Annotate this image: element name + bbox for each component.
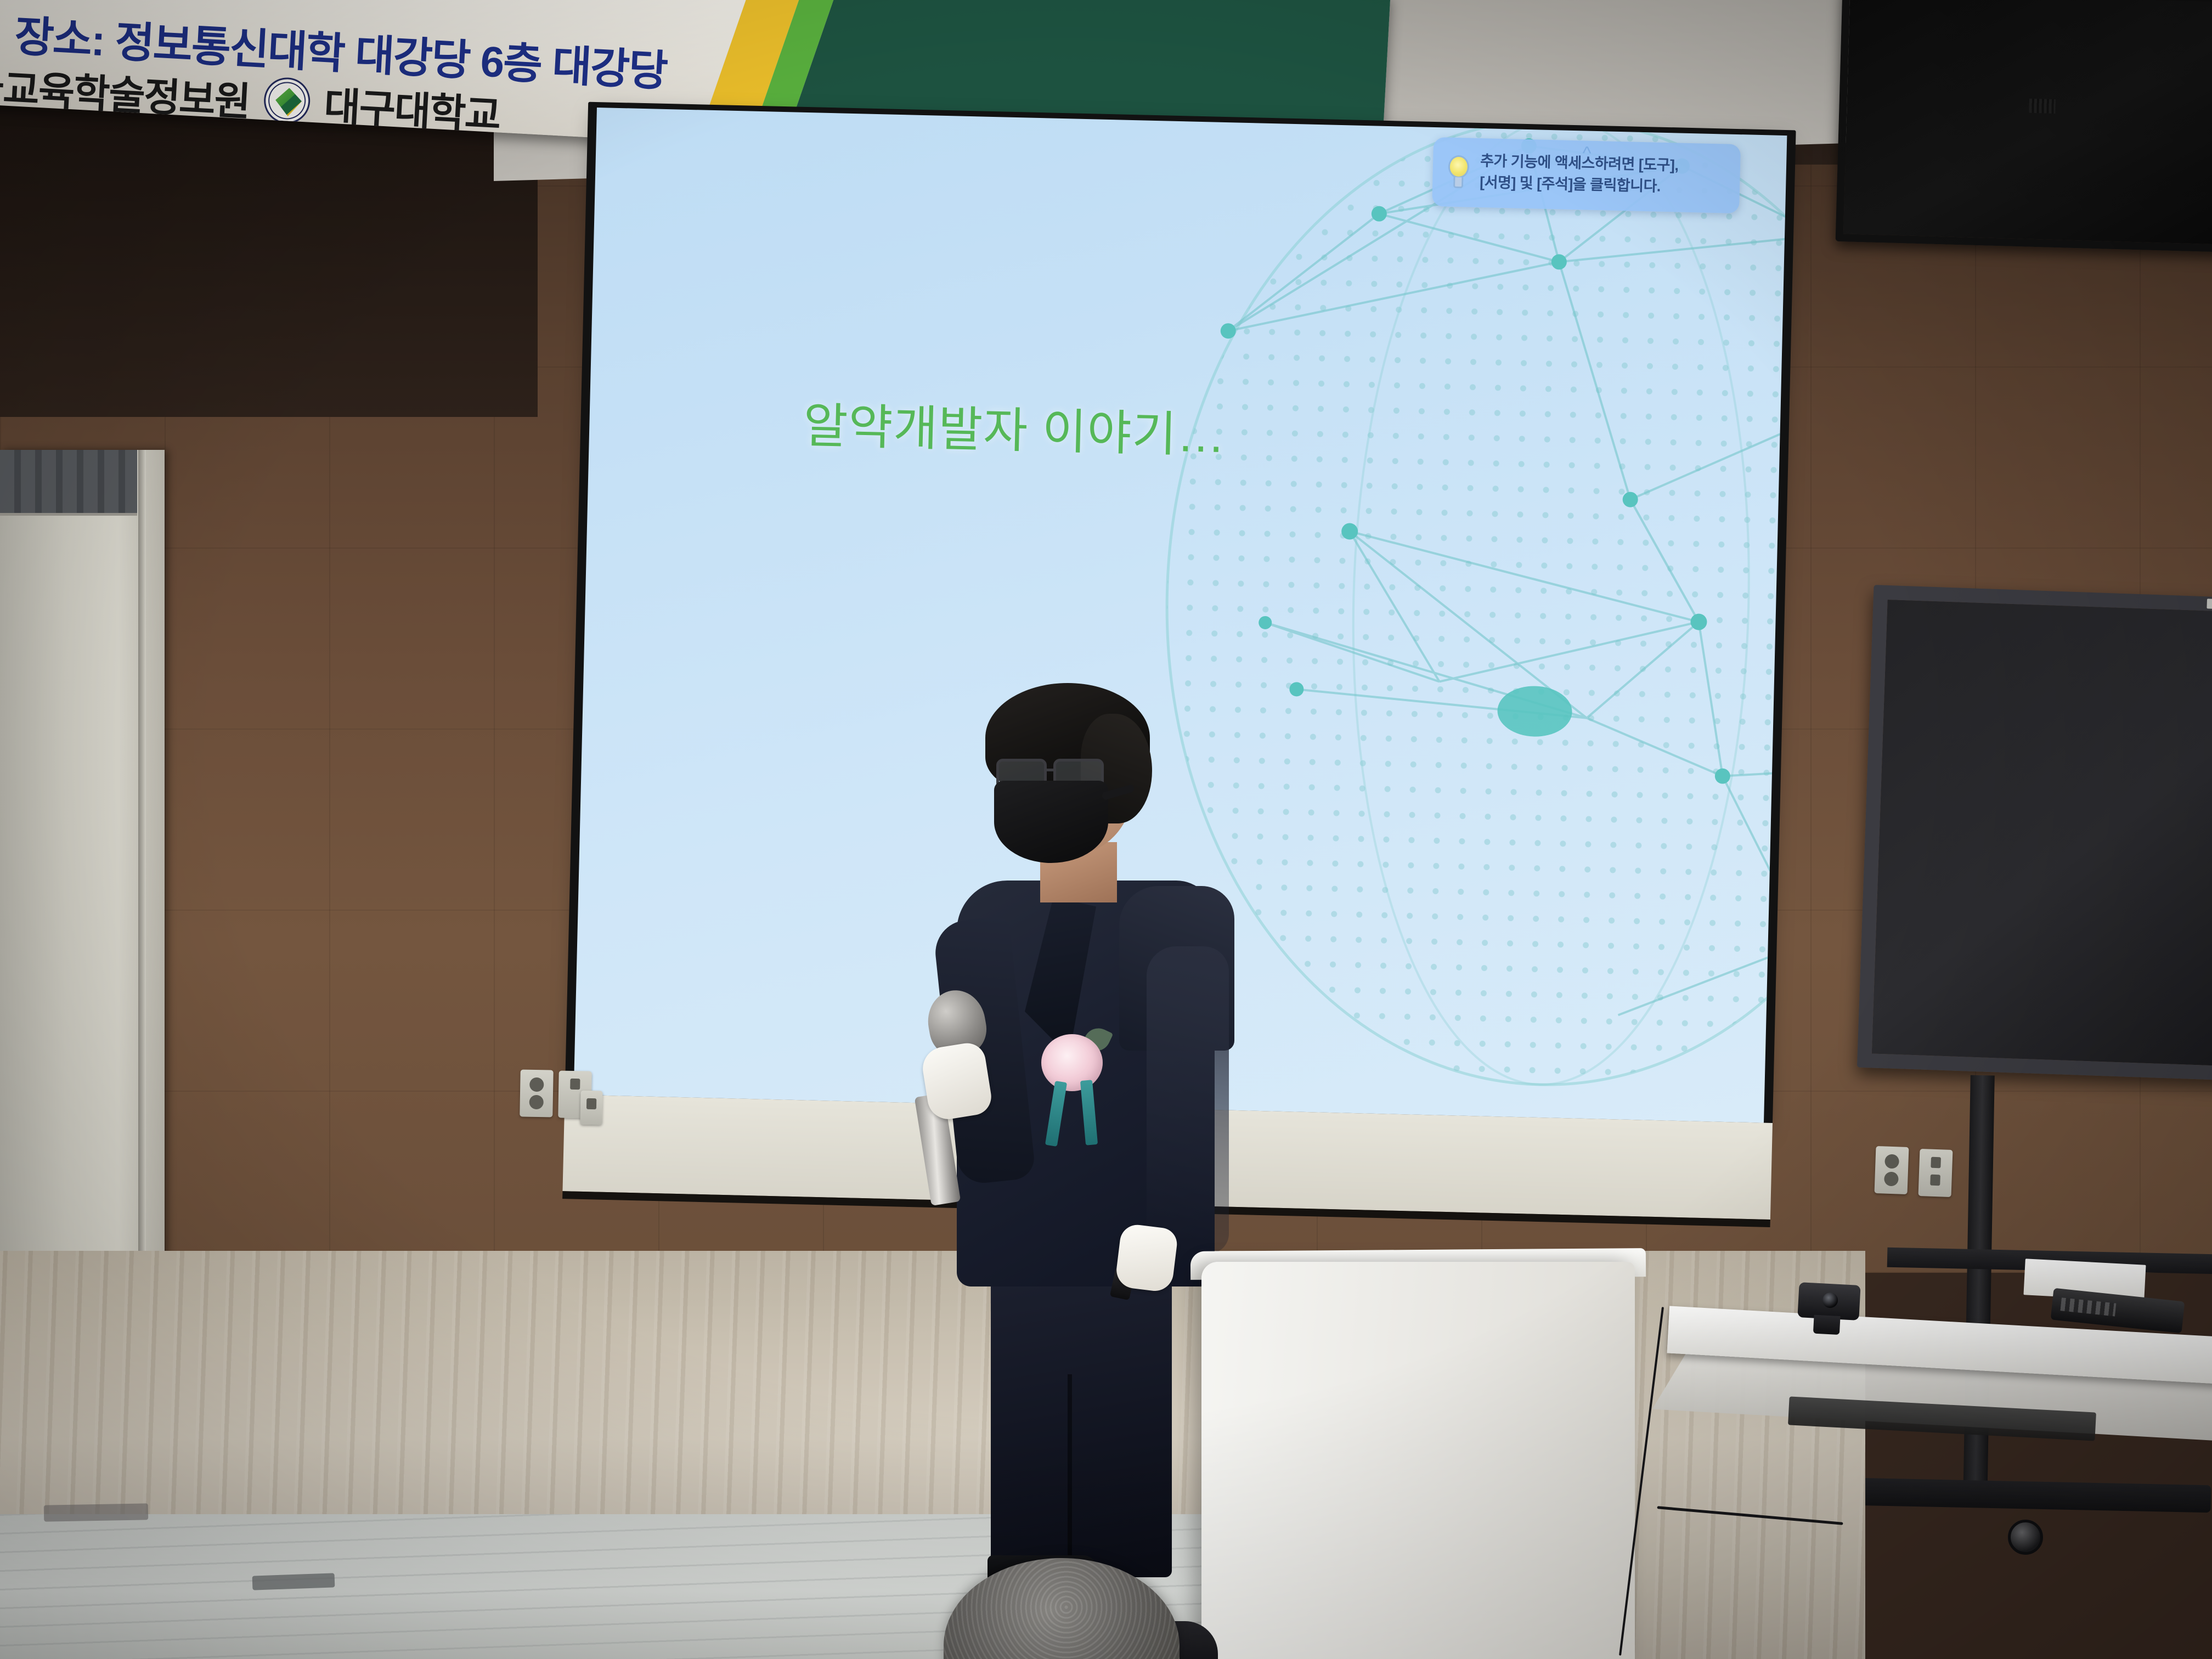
presenter-leg-split — [1068, 1374, 1072, 1577]
lectern-podium: 대구대학교 DAEGU UNIVERSITY 1956 — [1201, 1262, 1635, 1659]
lecture-hall-scene: 장소: 정보통신대학 대강당 6층 대강당 국교육학술정보원 대구대학교 — [0, 0, 2212, 1659]
webcam-mount-clip — [1813, 1315, 1841, 1335]
usb-webcam — [1797, 1282, 1860, 1321]
bulb-glass — [1448, 155, 1469, 179]
plate-port — [570, 1079, 580, 1090]
presenter-legs — [991, 1259, 1172, 1577]
lightbulb-icon — [1446, 155, 1471, 191]
cart-caster-wheel — [2008, 1520, 2043, 1555]
remote-buttons — [2060, 1297, 2116, 1316]
outlet-socket — [529, 1095, 543, 1109]
plate-port — [1931, 1157, 1941, 1169]
plate-port — [586, 1098, 596, 1109]
pdf-tooltip-line1: 추가 기능에 액세스하려면 [도구], — [1480, 153, 1679, 174]
ceiling-mounted-display — [1836, 0, 2212, 252]
webcam-lens-icon — [1822, 1292, 1838, 1308]
slide-title: 알약개발자 이야기… — [803, 387, 1227, 466]
door-jamb — [138, 450, 146, 1273]
gloved-hand-lowered — [1114, 1223, 1178, 1293]
pdf-tooltip-line2: [서명] 및 [주석]을 클릭합니다. — [1480, 174, 1661, 195]
wall-mounted-monitor — [1857, 585, 2212, 1081]
floor-marking — [44, 1503, 148, 1521]
outlet-socket — [1884, 1154, 1899, 1169]
university-crest-icon — [263, 76, 311, 125]
tv-cart-legs — [1827, 1477, 2211, 1513]
pdf-tooltip-text: 추가 기능에 액세스하려면 [도구], [서명] 및 [주석]을 클릭합니다. — [1480, 150, 1679, 198]
wall-plate-screen-side[interactable] — [580, 1091, 602, 1125]
face-mask — [994, 781, 1108, 863]
glasses-bridge — [1047, 769, 1054, 771]
wall-outlet-right-1[interactable] — [1875, 1146, 1909, 1194]
door-vent-grille — [0, 450, 137, 516]
display-logo — [2029, 98, 2056, 113]
rose-corsage — [1037, 1034, 1107, 1103]
pdf-tooltip[interactable]: ^ 추가 기능에 액세스하려면 [도구], [서명] 및 [주석]을 클릭합니다… — [1432, 137, 1741, 213]
outlet-socket — [529, 1077, 544, 1092]
gloved-hand-holding-microphone — [919, 1041, 994, 1122]
floor-marking — [252, 1573, 335, 1590]
corsage-rose — [1041, 1034, 1103, 1091]
chevron-up-icon: ^ — [1582, 144, 1592, 162]
plate-port — [1930, 1175, 1940, 1186]
tv-remote-control[interactable] — [2051, 1288, 2185, 1334]
wall-outlet-left-1[interactable] — [520, 1069, 553, 1117]
monitor-label-sticker — [2207, 599, 2212, 610]
crest-gem — [275, 87, 303, 117]
outlet-socket — [1884, 1172, 1899, 1187]
bulb-base — [1453, 177, 1463, 188]
presenter-right-arm — [1147, 946, 1229, 1254]
wall-plate-right-2[interactable] — [1918, 1149, 1953, 1197]
